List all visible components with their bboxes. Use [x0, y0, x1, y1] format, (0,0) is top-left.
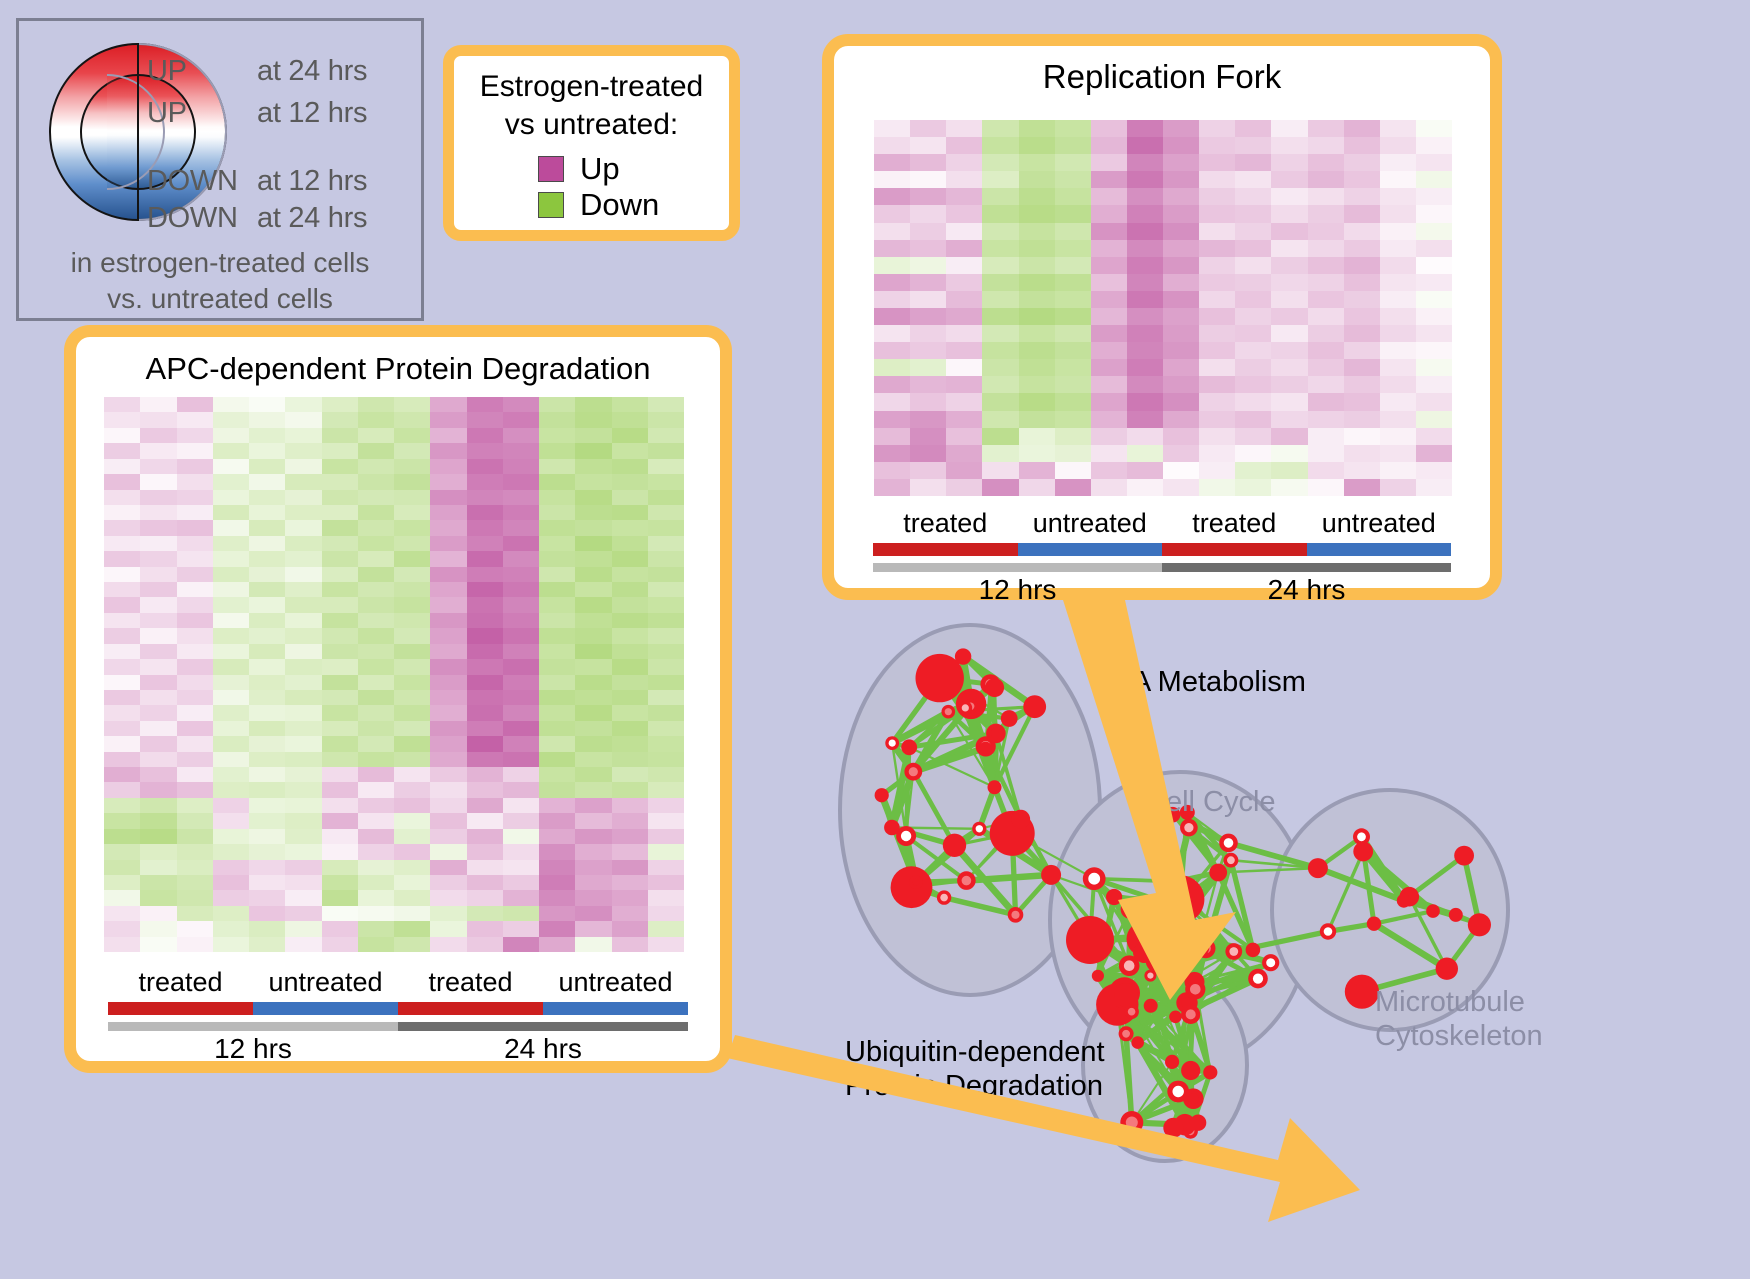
heatmap-cell [1091, 291, 1127, 308]
heatmap-cell [575, 597, 611, 612]
heatmap-cell [213, 412, 249, 427]
axis-group-colorbar [873, 543, 1451, 556]
heatmap-cell [177, 705, 213, 720]
heatmap-cell [1308, 462, 1344, 479]
heatmap-cell [648, 690, 684, 705]
heatmap-cell [285, 736, 321, 751]
network-node-core [962, 876, 972, 886]
heatmap-cell [1163, 342, 1199, 359]
heatmap-cell [394, 860, 430, 875]
heatmap-cell [1308, 188, 1344, 205]
network-node-core [1128, 1008, 1136, 1016]
caption-line-1: in estrogen-treated cells [19, 245, 421, 281]
heatmap-cell [1019, 411, 1055, 428]
heatmap-cell [612, 551, 648, 566]
heatmap-cell [539, 520, 575, 535]
heatmap-cell [140, 597, 176, 612]
heatmap-cell [1019, 240, 1055, 257]
heatmap-cell [285, 890, 321, 905]
heatmap-cell [394, 659, 430, 674]
heatmap-cell [140, 937, 176, 952]
heatmap-cell [1380, 154, 1416, 171]
heatmap-cell [1271, 411, 1307, 428]
heatmap-cell [575, 659, 611, 674]
heatmap-cell [612, 798, 648, 813]
heatmap-cell [249, 567, 285, 582]
heatmap-cell [612, 490, 648, 505]
heatmap-cell [539, 474, 575, 489]
heatmap-cell [467, 767, 503, 782]
heatmap-cell [539, 551, 575, 566]
heatmap-cell [1199, 376, 1235, 393]
heatmap-cell [648, 659, 684, 674]
heatmap-cell [358, 860, 394, 875]
heatmap-cell [982, 411, 1018, 428]
heatmap-cell [104, 520, 140, 535]
heatmap-cell [213, 459, 249, 474]
heatmap-cell [177, 520, 213, 535]
heatmap-cell [1416, 342, 1452, 359]
heatmap-cell [1199, 445, 1235, 462]
heatmap-cell [467, 690, 503, 705]
heatmap-cell [1019, 479, 1055, 496]
heatmap-cell [140, 782, 176, 797]
heatmap-cell [430, 860, 466, 875]
heatmap-cell [575, 690, 611, 705]
heatmap-cell [249, 921, 285, 936]
heatmap-cell [1344, 445, 1380, 462]
heatmap-cell [1127, 359, 1163, 376]
heatmap-cell [648, 721, 684, 736]
heatmap-cell [910, 154, 946, 171]
heatmap-cell [322, 752, 358, 767]
legend-title-line-1: Estrogen-treated [454, 68, 729, 106]
heatmap-cell [1199, 428, 1235, 445]
heatmap-cell [648, 844, 684, 859]
heatmap-cell [177, 659, 213, 674]
heatmap-cell [910, 428, 946, 445]
heatmap-cell [1380, 257, 1416, 274]
heatmap-cell [430, 875, 466, 890]
heatmap-cell [1163, 359, 1199, 376]
heatmap-cell [1308, 205, 1344, 222]
heatmap-cell [213, 890, 249, 905]
heatmap-cell [539, 443, 575, 458]
heatmap-cell [503, 412, 539, 427]
heatmap-cell [1380, 479, 1416, 496]
heatmap-cell [1091, 137, 1127, 154]
network-node-core [1184, 823, 1193, 832]
heatmap-cell [358, 459, 394, 474]
heatmap-cell [648, 782, 684, 797]
heatmap-cell [1271, 240, 1307, 257]
heatmap-cell [1091, 154, 1127, 171]
heatmap-cell [1271, 308, 1307, 325]
heatmap-cell [1344, 257, 1380, 274]
heatmap-cell [322, 767, 358, 782]
heatmap-cell [177, 813, 213, 828]
heatmap-cell [285, 860, 321, 875]
heatmap-cell [1019, 257, 1055, 274]
heatmap-cell [910, 445, 946, 462]
heatmap-cell [1019, 342, 1055, 359]
heatmap-cell [503, 428, 539, 443]
heatmap-cell [177, 582, 213, 597]
ring-divider [137, 43, 139, 221]
heatmap-cell [1163, 428, 1199, 445]
heatmap-cell [285, 490, 321, 505]
heatmap-cell [430, 659, 466, 674]
heatmap-cell [910, 325, 946, 342]
heatmap-cell [1271, 291, 1307, 308]
network-node [1454, 846, 1474, 866]
heatmap-cell [946, 342, 982, 359]
heatmap-cell [213, 705, 249, 720]
network-node-core [1125, 904, 1135, 914]
network-node [1133, 943, 1151, 961]
heatmap-cell [575, 675, 611, 690]
heatmap-cell [358, 813, 394, 828]
axis-seg-12hrs [108, 1022, 398, 1031]
heatmap-cell [213, 798, 249, 813]
heatmap-cell [982, 445, 1018, 462]
axis-seg-untreated [1307, 543, 1452, 556]
heatmap-cell [946, 188, 982, 205]
heatmap-cell [430, 412, 466, 427]
heatmap-cell [1380, 274, 1416, 291]
heatmap-cell [394, 551, 430, 566]
heatmap-cell [612, 921, 648, 936]
heatmap-cell [430, 567, 466, 582]
heatmap-cell [946, 240, 982, 257]
heatmap-grid [104, 397, 684, 952]
heatmap-cell [1091, 171, 1127, 188]
heatmap-cell [394, 690, 430, 705]
heatmap-cell [612, 459, 648, 474]
heatmap-cell [358, 490, 394, 505]
heatmap-cell [1019, 428, 1055, 445]
heatmap-cell [322, 875, 358, 890]
heatmap-cell [910, 188, 946, 205]
heatmap-cell [394, 505, 430, 520]
heatmap-cell [1055, 120, 1091, 137]
heatmap-cell [874, 223, 910, 240]
heatmap-cell [503, 890, 539, 905]
network-node [1114, 983, 1138, 1007]
heatmap-cell [503, 921, 539, 936]
heatmap-cell [1308, 274, 1344, 291]
heatmap-cell [612, 582, 648, 597]
heatmap-cell [177, 752, 213, 767]
network-node [1106, 889, 1122, 905]
heatmap-cell [1344, 411, 1380, 428]
heatmap-cell [1416, 308, 1452, 325]
key-state-label: UP [147, 55, 257, 88]
heatmap-cell [322, 490, 358, 505]
heatmap-cell [394, 890, 430, 905]
heatmap-cell [503, 829, 539, 844]
heatmap-cell [104, 628, 140, 643]
color-key-caption: in estrogen-treated cells vs. untreated … [19, 245, 421, 317]
heatmap-cell [648, 551, 684, 566]
heatmap-cell [249, 736, 285, 751]
heatmap-cell [285, 505, 321, 520]
heatmap-cell [575, 644, 611, 659]
legend-label-down: Down [580, 188, 659, 222]
heatmap-cell [575, 798, 611, 813]
heatmap-cell [140, 582, 176, 597]
heatmap-cell [946, 120, 982, 137]
network-node-core [1193, 941, 1204, 952]
heatmap-cell [1235, 120, 1271, 137]
heatmap-cell [874, 137, 910, 154]
heatmap-cell [467, 443, 503, 458]
heatmap-cell [430, 813, 466, 828]
heatmap-cell [612, 567, 648, 582]
heatmap-cell [358, 428, 394, 443]
heatmap-cell [140, 844, 176, 859]
heatmap-cell [1091, 308, 1127, 325]
heatmap-cell [467, 890, 503, 905]
heatmap-cell [177, 459, 213, 474]
heatmap-cell [1127, 308, 1163, 325]
heatmap-cell [575, 551, 611, 566]
heatmap-cell [1380, 411, 1416, 428]
heatmap-cell [285, 536, 321, 551]
heatmap-cell [358, 752, 394, 767]
heatmap-cell [648, 505, 684, 520]
heatmap-cell [104, 860, 140, 875]
heatmap-cell [1055, 137, 1091, 154]
heatmap-cell [982, 291, 1018, 308]
heatmap-cell [575, 520, 611, 535]
heatmap-cell [539, 505, 575, 520]
heatmap-cell [322, 644, 358, 659]
heatmap-cell [1308, 445, 1344, 462]
heatmap-cell [322, 782, 358, 797]
network-node [1169, 1011, 1182, 1024]
heatmap-cell [539, 860, 575, 875]
heatmap-cell [1235, 342, 1271, 359]
heatmap-grid [874, 120, 1452, 496]
heatmap-cell [177, 937, 213, 952]
network-node-core [1190, 984, 1201, 995]
key-row-down-12: DOWNat 12 hrs [147, 165, 367, 198]
heatmap-cell [1380, 205, 1416, 222]
heatmap-cell [874, 154, 910, 171]
heatmap-cell [249, 644, 285, 659]
heatmap-cell [285, 906, 321, 921]
heatmap-cell [503, 675, 539, 690]
heatmap-cell [177, 474, 213, 489]
heatmap-cell [648, 767, 684, 782]
network-node-core [878, 792, 885, 799]
heatmap-cell [358, 397, 394, 412]
heatmap-cell [982, 154, 1018, 171]
heatmap-cell [177, 921, 213, 936]
heatmap-cell [1199, 479, 1235, 496]
heatmap-cell [467, 459, 503, 474]
heatmap-cell [1163, 376, 1199, 393]
heatmap-cell [104, 613, 140, 628]
heatmap-cell [467, 412, 503, 427]
heatmap-cell [104, 582, 140, 597]
network-node-core [1011, 911, 1019, 919]
heatmap-cell [322, 813, 358, 828]
heatmap-cell [503, 597, 539, 612]
heatmap-cell [394, 921, 430, 936]
heatmap-cell [1235, 154, 1271, 171]
heatmap-cell [322, 705, 358, 720]
heatmap-cell [612, 752, 648, 767]
heatmap-cell [358, 536, 394, 551]
heatmap-cell [539, 844, 575, 859]
heatmap-cell [140, 412, 176, 427]
heatmap-cell [874, 171, 910, 188]
heatmap-cell [430, 597, 466, 612]
heatmap-cell [177, 490, 213, 505]
key-state-label: DOWN [147, 165, 257, 198]
heatmap-cell [648, 937, 684, 952]
heatmap-cell [648, 412, 684, 427]
heatmap-cell [249, 520, 285, 535]
heatmap-cell [1308, 411, 1344, 428]
heatmap-cell [430, 459, 466, 474]
heatmap-cell [982, 376, 1018, 393]
heatmap-cell [648, 597, 684, 612]
heatmap-cell [1055, 154, 1091, 171]
heatmap-cell [1416, 376, 1452, 393]
heatmap-cell [1091, 479, 1127, 496]
heatmap-cell [213, 675, 249, 690]
heatmap-cell [1308, 376, 1344, 393]
heatmap-cell [612, 906, 648, 921]
heatmap-cell [322, 397, 358, 412]
heatmap-cell [503, 397, 539, 412]
heatmap-cell [1055, 274, 1091, 291]
axis-group-label: treated [398, 967, 543, 998]
heatmap-cell [1091, 240, 1127, 257]
heatmap-cell [322, 628, 358, 643]
heatmap-cell [140, 613, 176, 628]
heatmap-cell [539, 937, 575, 952]
heatmap-cell [177, 875, 213, 890]
heatmap-cell [430, 921, 466, 936]
heatmap-cell [612, 644, 648, 659]
heatmap-cell [104, 782, 140, 797]
heatmap-cell [503, 844, 539, 859]
axis-group-label: treated [108, 967, 253, 998]
legend-item-up: Up [538, 152, 729, 186]
heatmap-cell [285, 721, 321, 736]
heatmap-cell [1344, 359, 1380, 376]
heatmap-cell [104, 921, 140, 936]
heatmap-cell [104, 829, 140, 844]
heatmap-cell [430, 675, 466, 690]
heatmap-cell [1308, 428, 1344, 445]
network-node [1436, 958, 1458, 980]
heatmap-cell [140, 520, 176, 535]
heatmap-cell [358, 690, 394, 705]
heatmap-cell [575, 505, 611, 520]
heatmap-cell [1127, 188, 1163, 205]
network-node-core [901, 831, 911, 841]
heatmap-cell [430, 613, 466, 628]
axis-group-labels: treated untreated treated untreated [108, 967, 688, 998]
heatmap-cell [1344, 154, 1380, 171]
heatmap-cell [358, 937, 394, 952]
heatmap-cell [982, 223, 1018, 240]
network-node-core [945, 708, 952, 715]
heatmap-cell [104, 937, 140, 952]
heatmap-cell [249, 721, 285, 736]
heatmap-cell [249, 690, 285, 705]
network-node [988, 780, 1002, 794]
heatmap-cell [539, 644, 575, 659]
network-node-core [1134, 1039, 1141, 1046]
heatmap-cell [467, 428, 503, 443]
heatmap-cell [575, 705, 611, 720]
heatmap-cell [1091, 223, 1127, 240]
network-node-core [912, 879, 919, 886]
heatmap-cell [1235, 445, 1271, 462]
heatmap-cell [467, 551, 503, 566]
heatmap-cell [285, 752, 321, 767]
heatmap-cell [612, 767, 648, 782]
heatmap-cell [394, 520, 430, 535]
heatmap-cell [249, 613, 285, 628]
network-node [1023, 695, 1046, 718]
key-time-label: at 24 hrs [257, 202, 367, 235]
network-node [1308, 858, 1328, 878]
heatmap-cell [575, 443, 611, 458]
network-node [901, 739, 917, 755]
heatmap-cell [946, 205, 982, 222]
heatmap-cell [874, 376, 910, 393]
heatmap-cell [1019, 325, 1055, 342]
heatmap-cell [982, 325, 1018, 342]
heatmap-cell [1416, 274, 1452, 291]
heatmap-cell [467, 505, 503, 520]
heatmap-cell [358, 474, 394, 489]
heatmap-cell [575, 752, 611, 767]
heatmap-cell [648, 536, 684, 551]
network-node-core [991, 728, 1001, 738]
heatmap-cell [140, 736, 176, 751]
heatmap-cell [430, 782, 466, 797]
heatmap-cell [358, 412, 394, 427]
heatmap-cell [177, 721, 213, 736]
network-node-core [1186, 1009, 1196, 1019]
heatmap-cell [1380, 342, 1416, 359]
heatmap-cell [910, 120, 946, 137]
heatmap-cell [177, 906, 213, 921]
heatmap-cell [358, 736, 394, 751]
heatmap-cell [1271, 257, 1307, 274]
heatmap-cell [177, 736, 213, 751]
network-node [1426, 904, 1440, 918]
heatmap-cell [322, 582, 358, 597]
network-node-core [1173, 1086, 1184, 1097]
heatmap-cell [394, 628, 430, 643]
heatmap-cell [177, 628, 213, 643]
heatmap-cell [874, 462, 910, 479]
heatmap-cell [648, 474, 684, 489]
network-node-core [1126, 1117, 1138, 1129]
heatmap-cell [575, 890, 611, 905]
heatmap-cell [104, 705, 140, 720]
heatmap-cell [1235, 325, 1271, 342]
